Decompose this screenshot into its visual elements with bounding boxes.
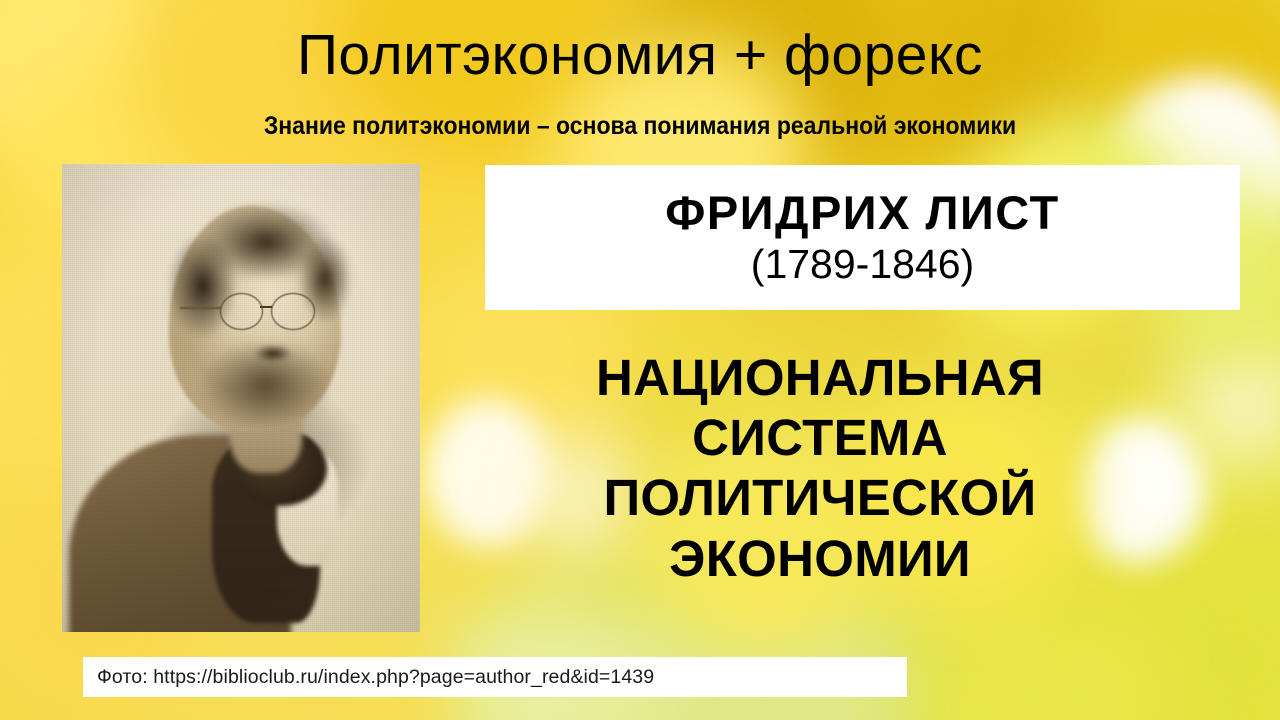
work-title-line: ЭКОНОМИИ — [455, 529, 1185, 589]
photo-credit-box: Фото: https://biblioclub.ru/index.php?pa… — [83, 657, 907, 697]
bokeh-circle — [600, 590, 900, 720]
person-years: (1789-1846) — [751, 242, 974, 288]
bokeh-circle-white — [1180, 330, 1280, 470]
photo-credit-text: Фото: https://biblioclub.ru/index.php?pa… — [83, 666, 654, 689]
portrait-artwork — [62, 164, 420, 632]
person-name-card: ФРИДРИХ ЛИСТ (1789-1846) — [485, 165, 1240, 310]
slide-title: Политэкономия + форекс — [0, 26, 1280, 86]
presentation-slide: Политэкономия + форекс Знание политэконо… — [0, 0, 1280, 720]
work-title: НАЦИОНАЛЬНАЯ СИСТЕМА ПОЛИТИЧЕСКОЙ ЭКОНОМ… — [455, 348, 1185, 589]
bokeh-circle — [930, 600, 1180, 720]
person-name: ФРИДРИХ ЛИСТ — [665, 187, 1060, 240]
portrait-image — [62, 164, 420, 632]
slide-subtitle: Знание политэкономии – основа понимания … — [51, 113, 1229, 141]
work-title-line: ПОЛИТИЧЕСКОЙ — [455, 468, 1185, 528]
work-title-line: СИСТЕМА — [455, 408, 1185, 468]
portrait-vignette — [62, 164, 420, 632]
work-title-line: НАЦИОНАЛЬНАЯ — [455, 348, 1185, 408]
